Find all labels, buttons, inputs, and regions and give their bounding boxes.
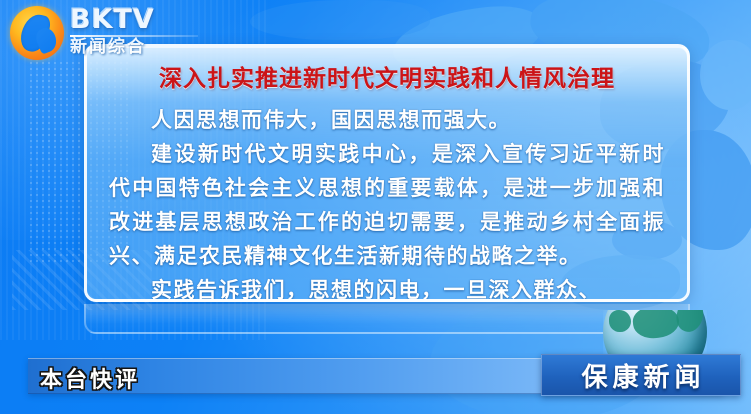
phoenix-circle-icon xyxy=(10,6,64,60)
page-title: 深入扎实推进新时代文明实践和人情风治理 xyxy=(103,59,671,93)
landmass-shape xyxy=(700,40,751,110)
station-logo: BKTV 新闻综合 xyxy=(6,4,206,62)
program-title-plate: 保康新闻 xyxy=(541,354,741,396)
article-paragraph: 建设新时代文明实践中心，是深入宣传习近平新时代中国特色社会主义思想的重要载体，是… xyxy=(109,137,665,273)
content-panel: 深入扎实推进新时代文明实践和人情风治理 人因思想而伟大，国因思想而强大。 建设新… xyxy=(84,44,690,302)
globe-continent xyxy=(673,310,707,335)
station-channel-name: 新闻综合 xyxy=(70,38,202,57)
station-call-sign: BKTV xyxy=(70,6,202,34)
article-paragraph: 人因思想而伟大，国因思想而强大。 xyxy=(109,103,665,137)
article-paragraph: 实践告诉我们，思想的闪电，一旦深入群众、 xyxy=(109,273,665,302)
article-body: 人因思想而伟大，国因思想而强大。 建设新时代文明实践中心，是深入宣传习近平新时代… xyxy=(109,103,665,302)
program-title: 保康新闻 xyxy=(576,357,705,394)
program-bug: 保康新闻 xyxy=(536,312,741,408)
globe-continent xyxy=(631,310,680,340)
segment-label: 本台快评 xyxy=(40,362,140,394)
globe-continent xyxy=(609,310,631,332)
station-logo-text: BKTV 新闻综合 xyxy=(70,6,202,57)
broadcast-frame: BKTV 新闻综合 深入扎实推进新时代文明实践和人情风治理 人因思想而伟大，国因… xyxy=(0,0,751,414)
